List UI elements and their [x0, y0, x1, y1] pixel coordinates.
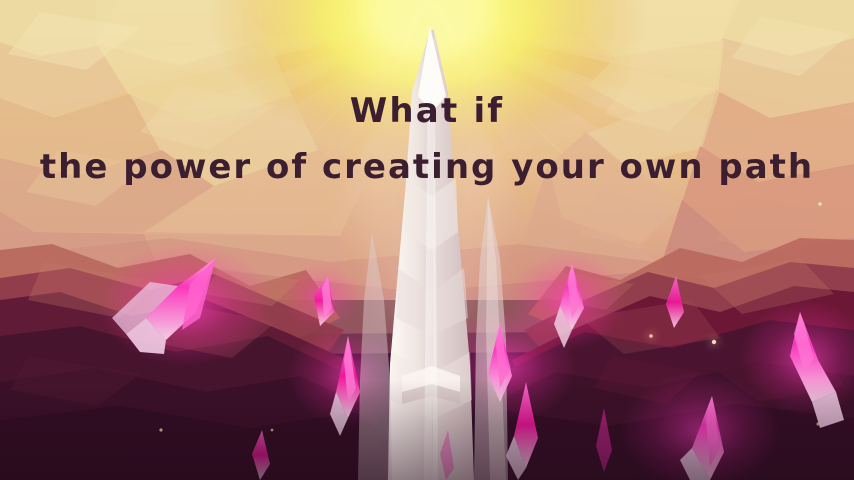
scene-artwork: [0, 0, 854, 480]
bottom-vignette: [0, 380, 854, 480]
title-card-scene: What if the power of creating your own p…: [0, 0, 854, 480]
